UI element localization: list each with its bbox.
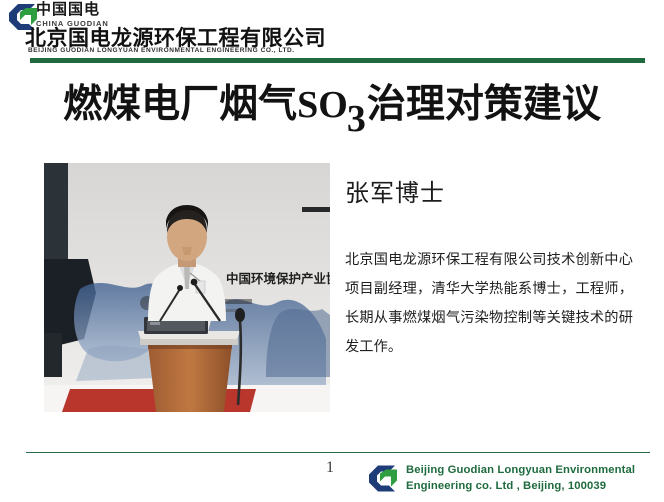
company-name-en: BEIJING GUODIAN LONGYUAN ENVIRONMENTAL E…	[28, 47, 295, 55]
speaker-photo: 中国环境保护产业协会	[44, 163, 330, 412]
title-prefix: 燃煤电厂烟气	[63, 82, 297, 127]
footer-guodian-logo-icon	[366, 463, 400, 494]
footer-divider	[26, 452, 650, 453]
page-title: 燃煤电厂烟气SO3治理对策建议	[0, 82, 664, 137]
svg-text:中国环境保护产业协会: 中国环境保护产业协会	[226, 271, 330, 286]
footer-company-line-1: Beijing Guodian Longyuan Environmental	[406, 463, 656, 479]
header-divider	[30, 58, 645, 63]
title-suffix: 治理对策建议	[367, 82, 601, 127]
speaker-bio: 北京国电龙源环保工程有限公司技术创新中心项目副经理，清华大学热能系博士，工程师，…	[345, 246, 633, 362]
title-formula-subscript: 3	[347, 98, 366, 140]
speaker-info-block: 张军博士 北京国电龙源环保工程有限公司技术创新中心项目副经理，清华大学热能系博士…	[345, 178, 645, 362]
title-formula-base: SO	[297, 84, 348, 126]
speaker-name: 张军博士	[345, 178, 645, 208]
footer-company-address: Beijing Guodian Longyuan Environmental E…	[406, 463, 656, 494]
slide-header: 中国国电 CHINA GUODIAN 北京国电龙源环保工程有限公司 BEIJIN…	[0, 0, 664, 68]
page-number: 1	[318, 458, 342, 478]
footer-company-line-2: Engineering co. Ltd , Beijing, 100039	[406, 479, 656, 495]
parent-company-name-cn: 中国国电	[36, 1, 236, 18]
parent-brand-group: 中国国电 CHINA GUODIAN	[36, 1, 236, 28]
